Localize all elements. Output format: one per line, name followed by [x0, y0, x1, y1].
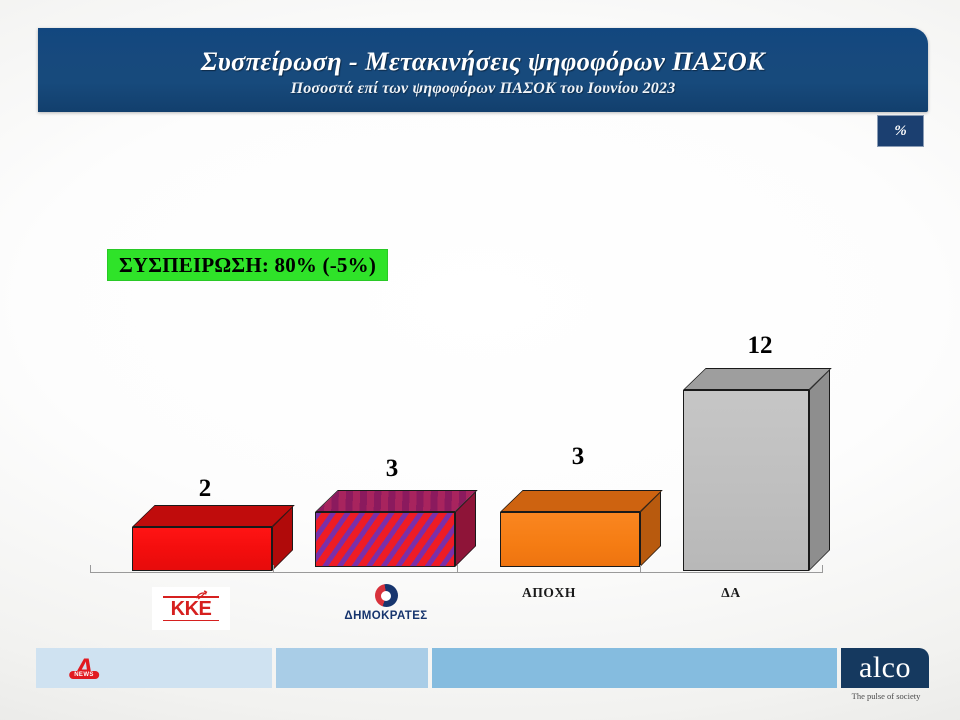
bar-apoxi [500, 490, 640, 567]
bar-apoxi-front [500, 512, 640, 567]
footer-segment-1 [132, 648, 272, 688]
bar-da-side [809, 369, 830, 571]
footer-segment-2 [276, 648, 428, 688]
alpha-news-logo: ANEWS [36, 648, 132, 688]
alco-tagline: The pulse of society [841, 691, 931, 701]
bar-kke [132, 505, 272, 571]
category-logo-dimokrates: ΔΗΜΟΚΡΑΤΕΣ [338, 584, 434, 630]
footer-segment-3 [432, 648, 837, 688]
x-axis-tick-2 [457, 565, 458, 573]
x-axis-tick-end [822, 565, 823, 573]
slide-root: Συσπείρωση - Μετακινήσεις ψηφοφόρων ΠΑΣΟ… [0, 0, 960, 720]
alco-logo: alco [841, 648, 929, 688]
x-axis-tick-start [90, 565, 91, 573]
bar-value-dimokrates: 3 [352, 455, 432, 483]
footer-bar: ANEWS alco The pulse of society [0, 648, 960, 720]
bar-value-kke: 2 [165, 475, 245, 503]
kke-wordmark: KKE [171, 599, 212, 619]
bar-value-apoxi: 3 [538, 443, 618, 471]
bar-dimokrates-top [315, 490, 478, 512]
bar-kke-front [132, 527, 272, 571]
bar-da-top [683, 368, 832, 390]
chart-plot-area: 2 3 3 12 [0, 0, 960, 720]
alpha-news-badge: NEWS [69, 671, 99, 679]
alpha-letter-a: ANEWS [74, 655, 94, 682]
bar-apoxi-top [500, 490, 663, 512]
kke-rule-bottom-icon [163, 620, 219, 622]
dimokrates-ring-icon [375, 584, 398, 607]
bar-da [683, 368, 809, 571]
bar-dimokrates [315, 490, 455, 567]
bar-value-da: 12 [720, 332, 800, 360]
bar-kke-top [132, 505, 295, 527]
dimokrates-wordmark: ΔΗΜΟΚΡΑΤΕΣ [344, 610, 427, 622]
category-label-apoxi: ΑΠΟΧΗ [469, 585, 629, 601]
x-axis-tick-3 [640, 565, 641, 573]
bar-da-front [683, 390, 809, 571]
x-axis-tick-1 [273, 565, 274, 573]
alco-wordmark: alco [859, 653, 911, 683]
bar-dimokrates-front [315, 512, 455, 567]
category-label-da: ΔΑ [651, 585, 811, 601]
category-logo-kke: KKE [152, 587, 230, 630]
hammer-sickle-icon [195, 590, 208, 600]
